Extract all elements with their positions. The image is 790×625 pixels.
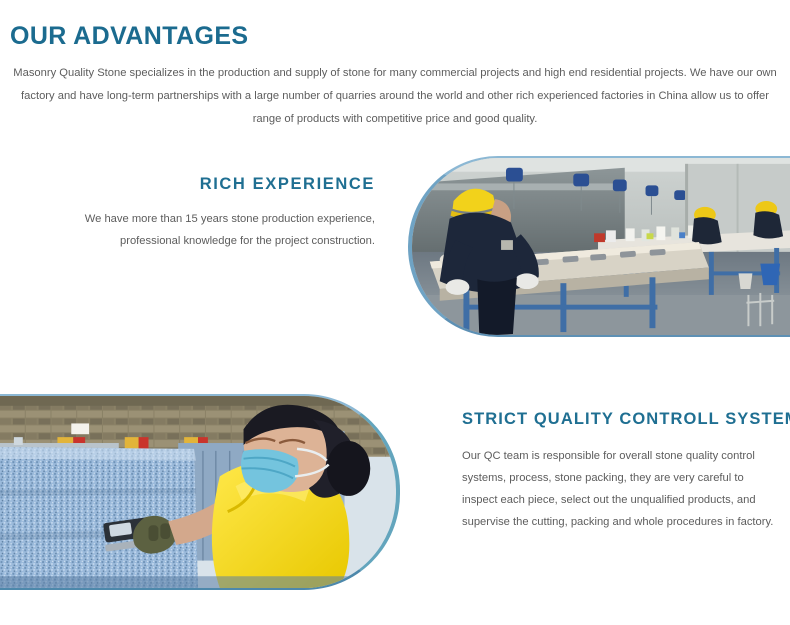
intro-paragraph: Masonry Quality Stone specializes in the… bbox=[8, 62, 782, 131]
section-rich-experience: RICH EXPERIENCE We have more than 15 yea… bbox=[40, 175, 375, 252]
factory-workshop-illustration bbox=[412, 158, 790, 335]
page-title: OUR ADVANTAGES bbox=[10, 22, 248, 51]
section-strict-quality-controll-system: STRICT QUALITY CONTROLL SYSTEM Our QC te… bbox=[462, 410, 782, 533]
qc-inspection-photo bbox=[0, 394, 400, 590]
qc-inspection-illustration bbox=[0, 396, 396, 588]
factory-workshop-photo bbox=[408, 156, 790, 337]
section-heading-strict-quality: STRICT QUALITY CONTROLL SYSTEM bbox=[462, 410, 782, 429]
section-body-strict-quality: Our QC team is responsible for overall s… bbox=[462, 445, 782, 533]
section-body-rich-experience: We have more than 15 years stone product… bbox=[40, 208, 375, 252]
section-heading-rich-experience: RICH EXPERIENCE bbox=[40, 175, 375, 194]
